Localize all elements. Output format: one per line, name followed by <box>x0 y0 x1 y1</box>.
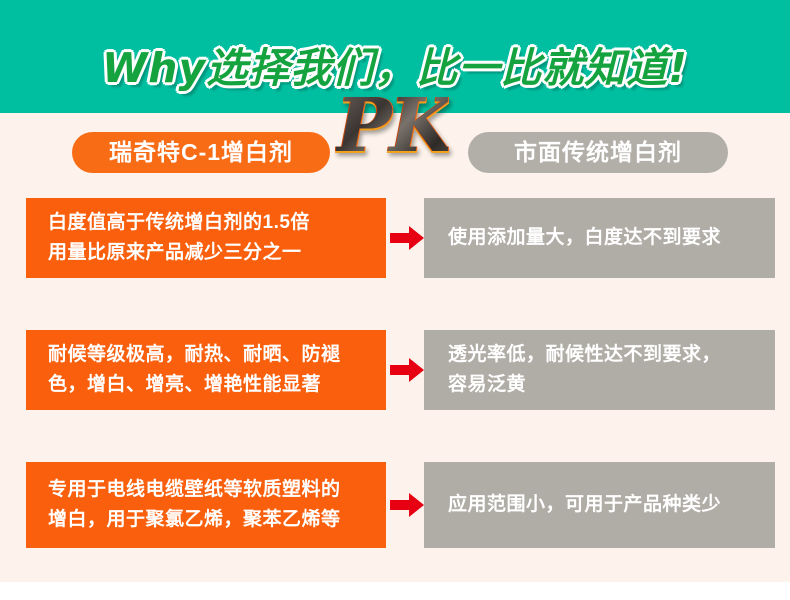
header-pill-our-product: 瑞奇特C-1增白剂 <box>72 132 330 173</box>
pro-text-line: 专用于电线电缆壁纸等软质塑料的 <box>48 475 364 505</box>
con-box: 应用范围小，可用于产品种类少 <box>424 462 775 548</box>
arrow-right-icon <box>390 358 424 382</box>
arrow-right-icon <box>390 493 424 517</box>
pro-text-line: 白度值高于传统增白剂的1.5倍 <box>48 208 364 238</box>
con-box: 使用添加量大，白度达不到要求 <box>424 198 775 278</box>
pro-text-line: 耐候等级极高，耐热、耐晒、防褪 <box>48 340 364 370</box>
pro-box: 专用于电线电缆壁纸等软质塑料的 增白，用于聚氯乙烯，聚苯乙烯等 <box>26 462 386 548</box>
comparison-row: 专用于电线电缆壁纸等软质塑料的 增白，用于聚氯乙烯，聚苯乙烯等 应用范围小，可用… <box>0 462 790 548</box>
pk-logo: PK <box>336 80 448 172</box>
pro-text-line: 增白，用于聚氯乙烯，聚苯乙烯等 <box>48 505 364 535</box>
con-text-line: 容易泛黄 <box>448 370 751 400</box>
pro-text-line: 色，增白、增亮、增艳性能显著 <box>48 370 364 400</box>
comparison-row: 白度值高于传统增白剂的1.5倍 用量比原来产品减少三分之一 使用添加量大，白度达… <box>0 198 790 278</box>
pro-box: 耐候等级极高，耐热、耐晒、防褪 色，增白、增亮、增艳性能显著 <box>26 330 386 410</box>
pro-text-line: 用量比原来产品减少三分之一 <box>48 238 364 268</box>
con-text-line: 使用添加量大，白度达不到要求 <box>448 223 751 253</box>
con-text-line: 应用范围小，可用于产品种类少 <box>448 490 751 520</box>
comparison-infographic: Why选择我们，比一比就知道! 瑞奇特C-1增白剂 市面传统增白剂 PK 白度值… <box>0 0 790 600</box>
header-pill-traditional-product: 市面传统增白剂 <box>468 132 728 173</box>
comparison-row: 耐候等级极高，耐热、耐晒、防褪 色，增白、增亮、增艳性能显著 透光率低，耐候性达… <box>0 330 790 410</box>
pro-box: 白度值高于传统增白剂的1.5倍 用量比原来产品减少三分之一 <box>26 198 386 278</box>
arrow-right-icon <box>390 226 424 250</box>
con-text-line: 透光率低，耐候性达不到要求， <box>448 340 751 370</box>
con-box: 透光率低，耐候性达不到要求， 容易泛黄 <box>424 330 775 410</box>
